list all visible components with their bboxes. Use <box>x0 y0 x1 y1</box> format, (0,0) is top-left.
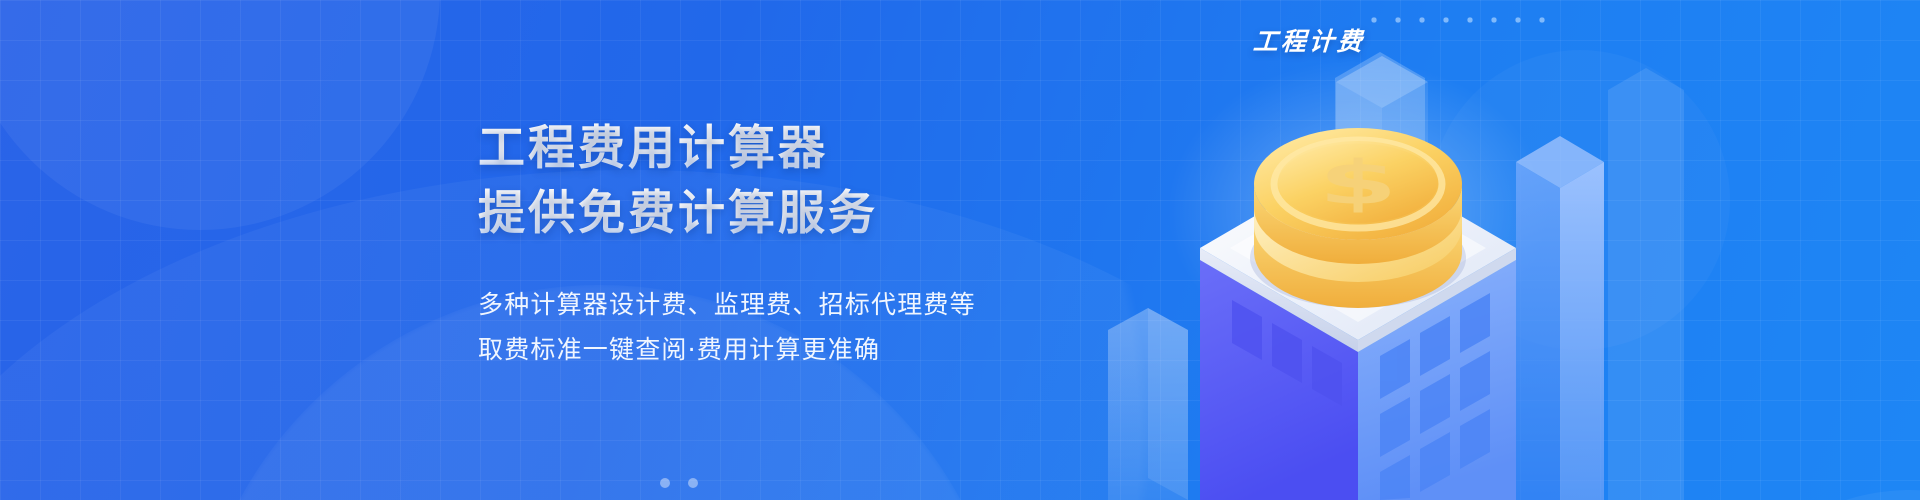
gold-coin-stack: $ <box>1254 128 1462 308</box>
banner-copy: 工程费用计算器 提供免费计算服务 多种计算器设计费、监理费、招标代理费等 取费标… <box>478 120 1118 372</box>
banner-illustration: $ 工程计费 <box>1080 0 1700 500</box>
dollar-symbol: $ <box>1319 149 1398 219</box>
decorative-circle-right <box>1700 490 1920 500</box>
illustration-badge-label: 工程计费 <box>1252 22 1366 58</box>
banner-subtitle-group: 多种计算器设计费、监理费、招标代理费等 取费标准一键查阅·费用计算更准确 <box>478 282 1118 372</box>
promo-banner: 工程费用计算器 提供免费计算服务 多种计算器设计费、监理费、招标代理费等 取费标… <box>0 0 1920 500</box>
carousel-pager[interactable] <box>660 478 698 488</box>
banner-title-line-1: 工程费用计算器 <box>478 120 1118 177</box>
banner-title-line-2: 提供免费计算服务 <box>478 185 1118 242</box>
decorative-circle-top-left <box>0 0 440 230</box>
banner-subtitle-line-1: 多种计算器设计费、监理费、招标代理费等 <box>478 282 1118 327</box>
svg-text:$: $ <box>1319 149 1398 219</box>
banner-subtitle-line-2: 取费标准一键查阅·费用计算更准确 <box>478 327 1118 372</box>
isometric-city-illustration: $ <box>1080 0 1700 500</box>
carousel-dot-2[interactable] <box>688 478 698 488</box>
background-bar-far-right <box>1608 68 1684 500</box>
background-bar-faint-left <box>1108 308 1188 500</box>
carousel-dot-1[interactable] <box>660 478 670 488</box>
background-bar-right <box>1516 136 1604 500</box>
